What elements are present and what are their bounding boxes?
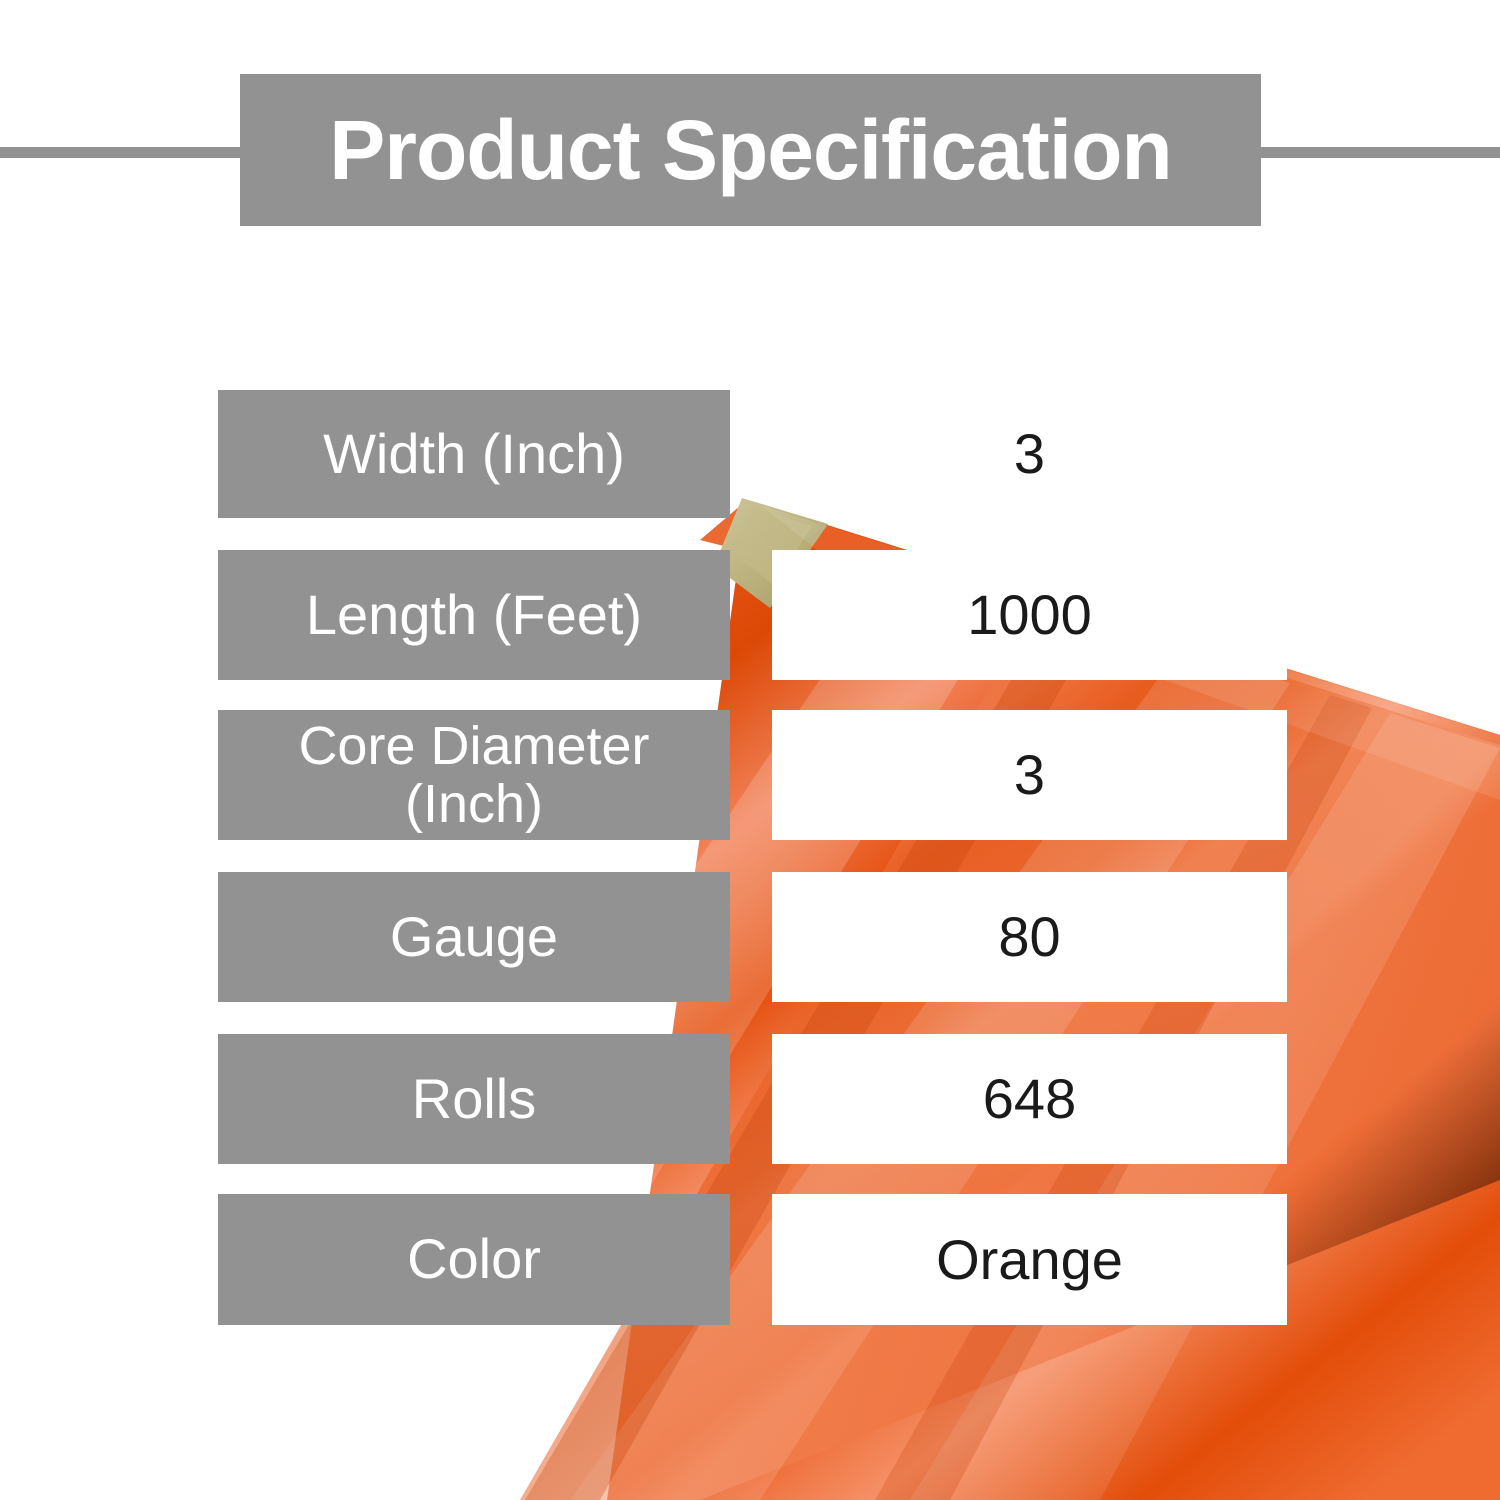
spec-label: Width (Inch) <box>218 390 730 518</box>
spec-value: 648 <box>772 1034 1287 1164</box>
spec-value: 80 <box>772 872 1287 1002</box>
spec-value: Orange <box>772 1194 1287 1325</box>
spec-label: Rolls <box>218 1034 730 1164</box>
spec-value: 3 <box>772 710 1287 840</box>
spec-label: Gauge <box>218 872 730 1002</box>
product-specification-page: Product Specification Width (Inch)3Lengt… <box>0 0 1500 1500</box>
spec-value: 3 <box>772 390 1287 518</box>
specification-table: Width (Inch)3Length (Feet)1000Core Diame… <box>0 0 1500 1500</box>
spec-label: Core Diameter (Inch) <box>218 710 730 840</box>
spec-value: 1000 <box>772 550 1287 680</box>
spec-label: Color <box>218 1194 730 1325</box>
spec-label: Length (Feet) <box>218 550 730 680</box>
